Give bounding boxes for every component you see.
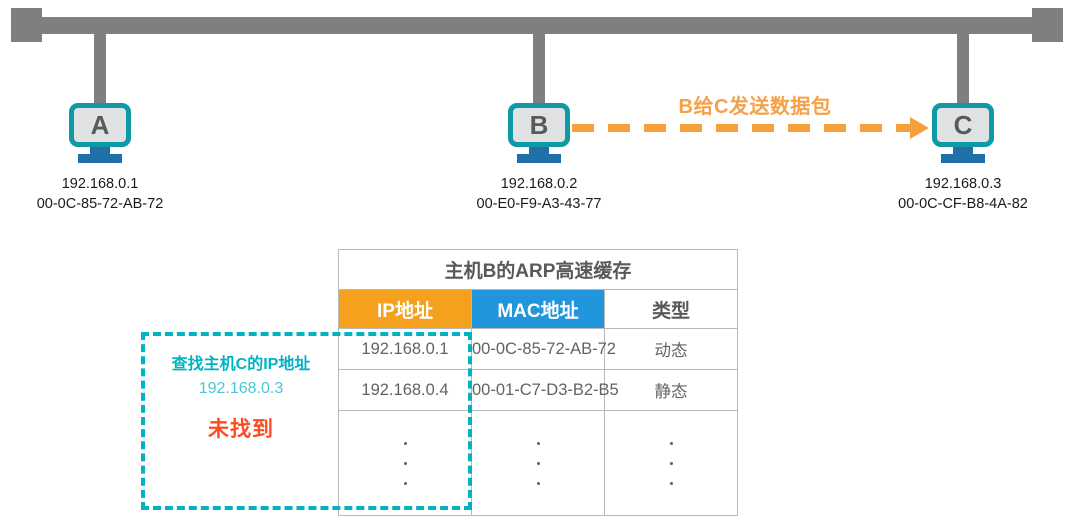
host-c-drop-cable xyxy=(957,33,969,105)
host-c-ip: 192.168.0.3 xyxy=(863,175,1063,194)
host-c-stand-base xyxy=(941,154,985,163)
lookup-result: 未找到 xyxy=(208,413,274,443)
host-a-monitor-icon: A xyxy=(69,103,131,147)
host-a-mac: 00-0C-85-72-AB-72 xyxy=(0,194,200,215)
packet-flow-arrow xyxy=(572,121,934,135)
host-c-monitor-icon: C xyxy=(932,103,994,147)
host-b-drop-cable xyxy=(533,33,545,105)
bus-backbone-line xyxy=(11,17,1057,34)
arrow-head-icon xyxy=(910,117,929,139)
host-c-letter: C xyxy=(954,112,973,138)
arp-table-header-row: IP地址 MAC地址 类型 xyxy=(339,290,738,329)
lookup-ip: 192.168.0.3 xyxy=(199,376,284,402)
row-0-mac: 00-0C-85-72-AB-72 xyxy=(472,329,605,370)
row-0-type: 动态 xyxy=(605,329,738,370)
lookup-title: 查找主机C的IP地址 xyxy=(172,354,311,376)
column-header-ip: IP地址 xyxy=(339,290,472,329)
column-header-type: 类型 xyxy=(605,290,738,329)
host-b-stand-base xyxy=(517,154,561,163)
ellipsis-type xyxy=(605,411,738,516)
host-b-ip: 192.168.0.2 xyxy=(439,175,639,194)
bus-terminator-left xyxy=(11,8,42,42)
packet-flow-label: B给C发送数据包 xyxy=(645,90,865,119)
column-header-mac: MAC地址 xyxy=(472,290,605,329)
arp-table-title-row: 主机B的ARP高速缓存 xyxy=(339,250,738,290)
host-a-stand-base xyxy=(78,154,122,163)
host-a-letter: A xyxy=(91,112,110,138)
bus-terminator-right xyxy=(1032,8,1063,42)
row-1-mac: 00-01-C7-D3-B2-B5 xyxy=(472,370,605,411)
host-b-letter: B xyxy=(530,112,549,138)
host-c-mac: 00-0C-CF-B8-4A-82 xyxy=(863,194,1063,215)
diagram-canvas: A 192.168.0.1 00-0C-85-72-AB-72 B 192.16… xyxy=(0,0,1084,522)
lookup-annotation: 查找主机C的IP地址 192.168.0.3 未找到 xyxy=(141,332,341,510)
host-a-drop-cable xyxy=(94,33,106,105)
ellipsis-mac xyxy=(472,411,605,516)
arp-table-title: 主机B的ARP高速缓存 xyxy=(339,250,738,290)
host-b-mac: 00-E0-F9-A3-43-77 xyxy=(439,194,639,215)
vertical-ellipsis-icon xyxy=(472,411,604,515)
host-b-monitor-icon: B xyxy=(508,103,570,147)
packet-flow-dashed-line xyxy=(572,124,910,132)
host-a-ip: 192.168.0.1 xyxy=(0,175,200,194)
row-1-type: 静态 xyxy=(605,370,738,411)
host-a-address-block: 192.168.0.1 00-0C-85-72-AB-72 xyxy=(0,175,200,215)
host-b-address-block: 192.168.0.2 00-E0-F9-A3-43-77 xyxy=(439,175,639,215)
host-c-address-block: 192.168.0.3 00-0C-CF-B8-4A-82 xyxy=(863,175,1063,215)
vertical-ellipsis-icon xyxy=(605,411,737,515)
